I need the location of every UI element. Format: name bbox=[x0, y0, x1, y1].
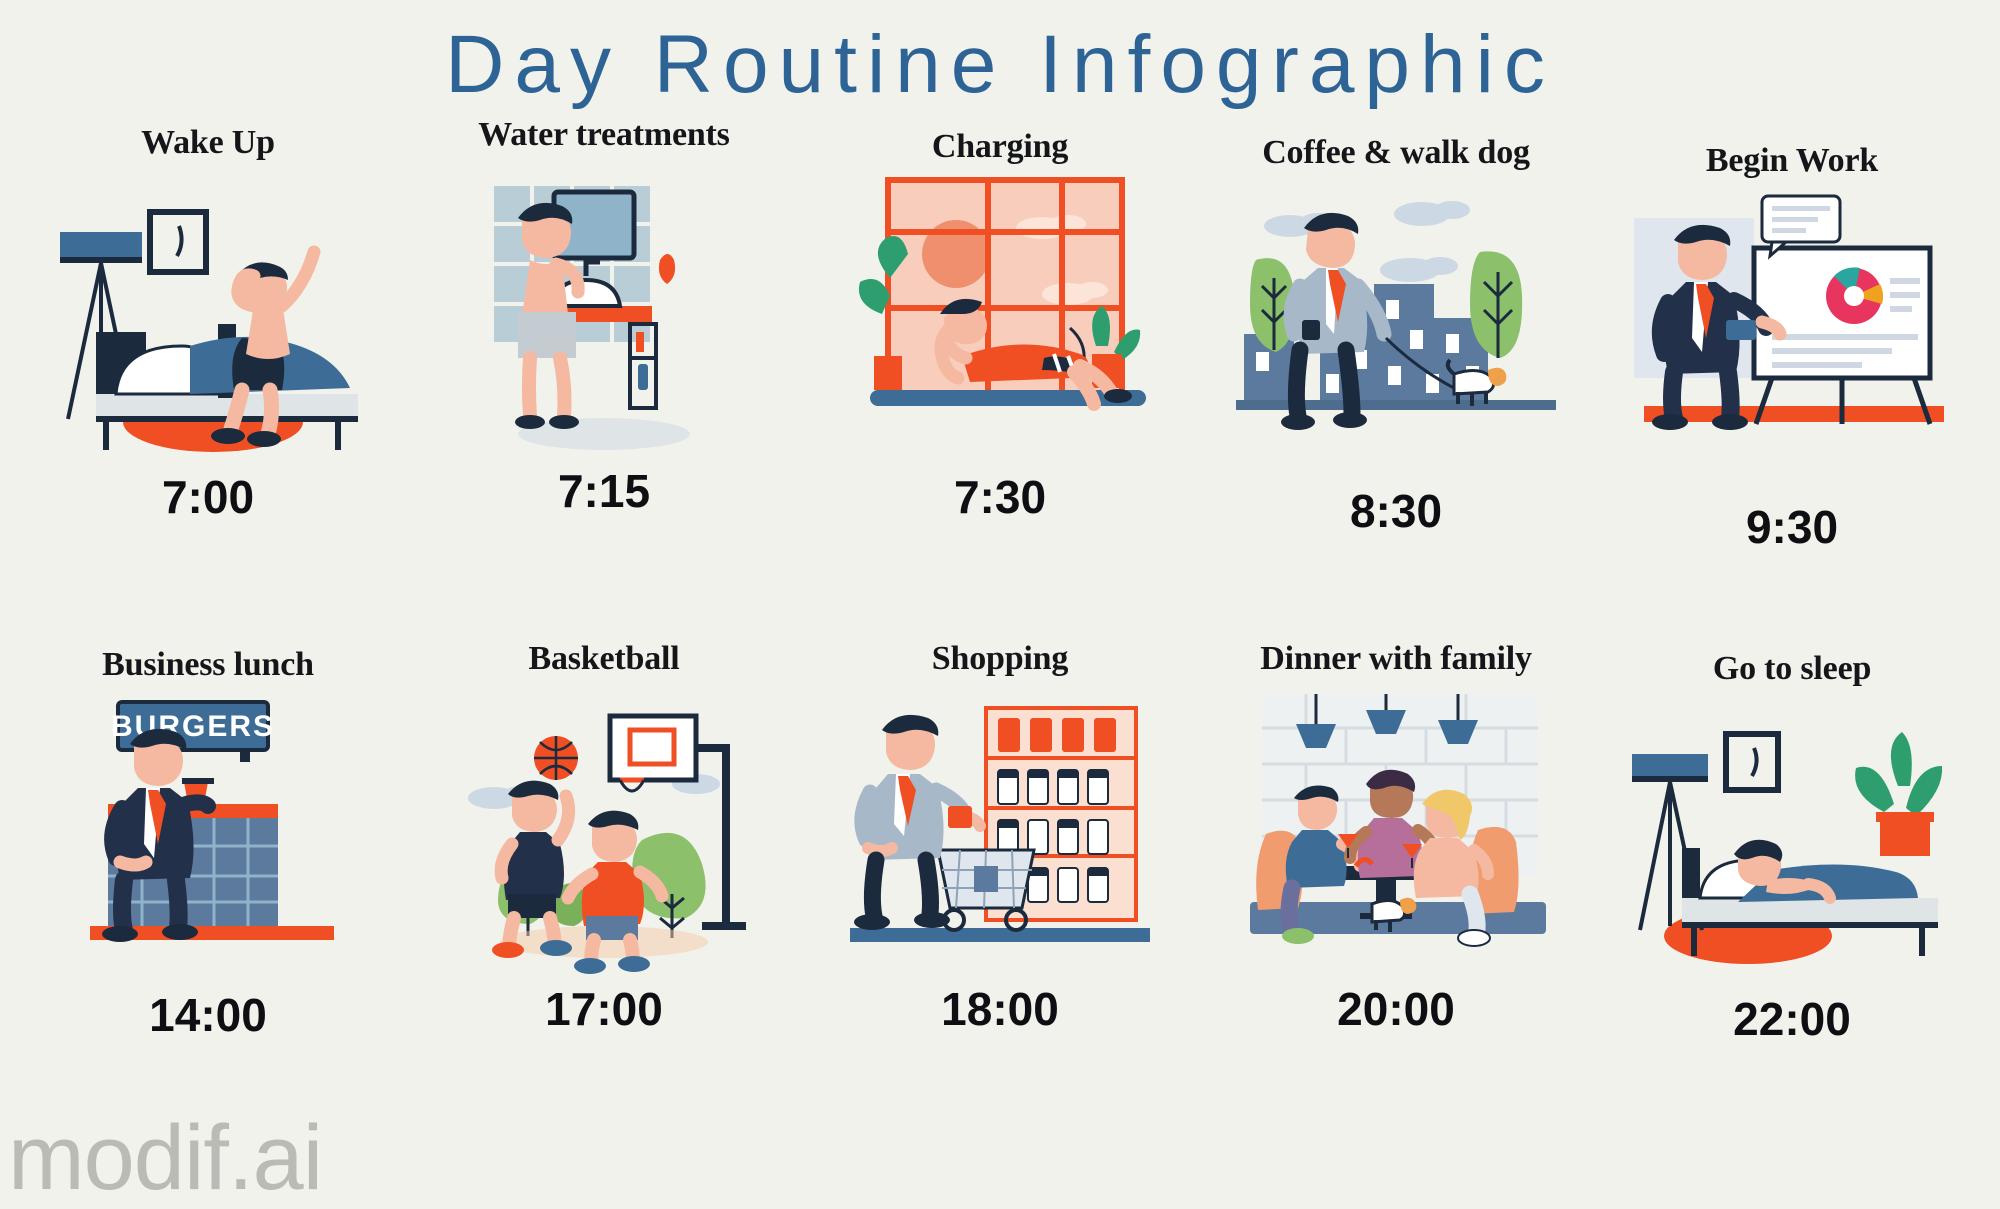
routine-item-begin-work: Begin Work bbox=[1594, 116, 1990, 642]
routine-item-charging: Charging bbox=[802, 116, 1198, 642]
routine-label: Coffee & walk dog bbox=[1262, 136, 1530, 170]
routine-item-business-lunch: Business lunch BURGERS bbox=[10, 642, 406, 1168]
routine-label: Go to sleep bbox=[1713, 652, 1871, 686]
routine-label: Wake Up bbox=[141, 126, 275, 160]
routine-item-wake-up: Wake Up bbox=[10, 116, 406, 642]
illustration-outdoor-basketball-hoop bbox=[406, 680, 802, 980]
routine-label: Begin Work bbox=[1706, 144, 1878, 178]
routine-item-shopping: Shopping bbox=[802, 642, 1198, 1168]
routine-time: 18:00 bbox=[941, 986, 1059, 1032]
illustration-grocery-store-cart bbox=[802, 680, 1198, 980]
illustration-restaurant-dinner-table bbox=[1198, 680, 1594, 980]
routine-label: Dinner with family bbox=[1260, 642, 1532, 676]
routine-time: 14:00 bbox=[149, 992, 267, 1038]
routine-time: 7:30 bbox=[954, 474, 1046, 520]
routine-time: 9:30 bbox=[1746, 504, 1838, 550]
illustration-yoga-plank-window bbox=[802, 168, 1198, 468]
routine-grid: Wake Up bbox=[0, 108, 2000, 1168]
illustration-bathroom-shaving-man bbox=[406, 156, 802, 456]
routine-time: 22:00 bbox=[1733, 996, 1851, 1042]
illustration-burgers-cafe-counter: BURGERS bbox=[10, 686, 406, 986]
routine-time: 17:00 bbox=[545, 986, 663, 1032]
routine-item-dinner-with-family: Dinner with family bbox=[1198, 642, 1594, 1168]
routine-item-basketball: Basketball bbox=[406, 642, 802, 1168]
routine-time: 8:30 bbox=[1350, 488, 1442, 534]
page-title: Day Routine Infographic bbox=[0, 0, 2000, 108]
illustration-city-walking-dog bbox=[1198, 174, 1594, 474]
illustration-presentation-whiteboard bbox=[1594, 182, 1990, 482]
routine-label: Charging bbox=[932, 130, 1068, 164]
routine-label: Basketball bbox=[528, 642, 679, 676]
illustration-bedroom-sleeping-man bbox=[1594, 690, 1990, 990]
routine-item-go-to-sleep: Go to sleep bbox=[1594, 642, 1990, 1168]
routine-item-water-treatments: Water treatments bbox=[406, 116, 802, 642]
routine-item-coffee-walk-dog: Coffee & walk dog bbox=[1198, 116, 1594, 642]
routine-label: Shopping bbox=[932, 642, 1068, 676]
infographic-page: Day Routine Infographic Wake Up bbox=[0, 0, 2000, 1200]
routine-time: 20:00 bbox=[1337, 986, 1455, 1032]
illustration-bedroom-stretching-man bbox=[10, 164, 406, 464]
routine-time: 7:00 bbox=[162, 474, 254, 520]
routine-label: Business lunch bbox=[102, 648, 314, 682]
routine-label: Water treatments bbox=[478, 118, 729, 152]
routine-time: 7:15 bbox=[558, 468, 650, 514]
